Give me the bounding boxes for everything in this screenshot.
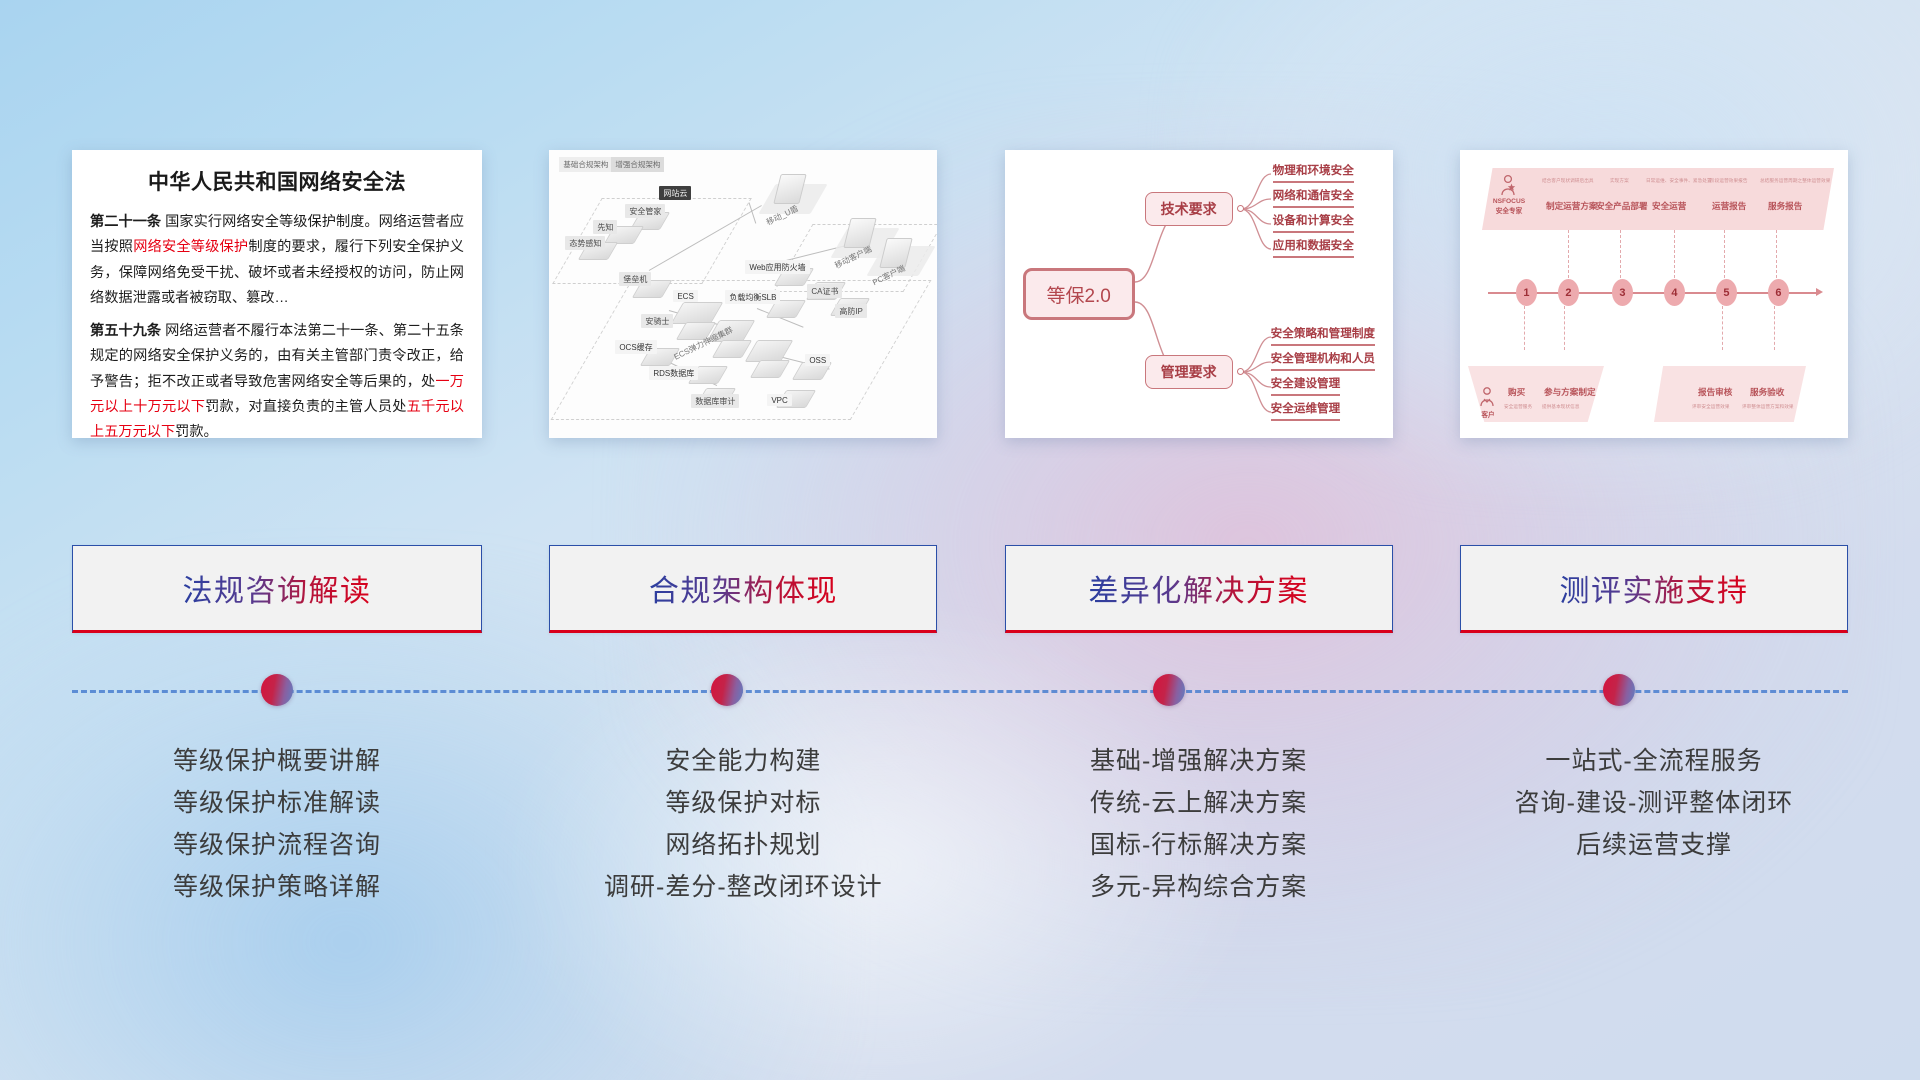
roadmap-bottom-label: 购买 (1508, 386, 1525, 398)
roadmap-bottom-label: 服务验收 (1750, 386, 1784, 398)
roadmap-dash (1568, 230, 1569, 278)
law-title: 中华人民共和国网络安全法 (90, 166, 464, 196)
roadmap-node-1[interactable]: 1 (1516, 279, 1537, 306)
mindmap-leaf: 应用和数据安全 (1273, 237, 1354, 258)
timeline-dot-4[interactable] (1603, 674, 1635, 706)
law-paragraph-2: 第五十九条 网络运营者不履行本法第二十一条、第二十五条规定的网络安全保护义务的，… (90, 319, 464, 438)
title-box-differentiated-solution[interactable]: 差异化解决方案 (1005, 545, 1393, 633)
roadmap-node-6[interactable]: 6 (1768, 279, 1789, 306)
roadmap-top-label: 运营报告 (1712, 200, 1746, 212)
mindmap-leaf: 安全策略和管理制度 (1271, 325, 1375, 346)
arch-label-slb: 负载均衡SLB (725, 290, 780, 304)
title-box-evaluation-support[interactable]: 测评实施支持 (1460, 545, 1848, 633)
arch-label-security-butler: 安全管家 (625, 204, 665, 218)
roadmap-dash (1564, 306, 1565, 350)
law-text-seg: 罚款，对直接负责的主管人员处 (205, 399, 406, 415)
mindmap-leaf: 网络和通信安全 (1273, 187, 1354, 208)
roadmap-dash (1674, 230, 1675, 278)
title-text: 法规咨询解读 (183, 566, 372, 610)
timeline-dashed-line (72, 690, 1848, 693)
mindmap-branch-technical[interactable]: 技术要求 (1145, 192, 1233, 226)
list-item: 传统-云上解决方案 (1005, 782, 1393, 824)
roadmap-top-caption: 实现方案 (1610, 178, 1629, 184)
title-text: 测评实施支持 (1559, 566, 1748, 610)
card-mindmap[interactable]: 等保2.0 技术要求 物理和环境安全 网络和通信安全 设备和计算安全 应用和数据… (1005, 150, 1393, 438)
arch-label-anti-ddos-ip: 高防IP (835, 304, 867, 318)
law-article-number: 第二十一条 (90, 214, 161, 230)
roadmap-top-label: 服务报告 (1768, 200, 1802, 212)
list-column-evaluation-support: 一站式-全流程服务 咨询-建设-测评整体闭环 后续运营支撑 (1460, 740, 1848, 1000)
list-item: 等级保护标准解读 (72, 782, 482, 824)
roadmap-top-caption: 日常运维、安全事件、紧急处置 (1646, 178, 1712, 184)
roadmap-bottom-caption: 安全运营服务 (1504, 404, 1532, 410)
list-column-regulation-consulting: 等级保护概要讲解 等级保护标准解读 等级保护流程咨询 等级保护策略详解 (72, 740, 482, 1000)
mindmap-root-node[interactable]: 等保2.0 (1023, 268, 1135, 320)
mindmap-leaf: 物理和环境安全 (1273, 162, 1354, 183)
list-item: 安全能力构建 (549, 740, 937, 782)
title-box-row: 法规咨询解读 合规架构体现 差异化解决方案 测评实施支持 (0, 545, 1920, 640)
roadmap-top-caption: 总结服务运营周期之整体运营效果 (1760, 178, 1830, 184)
list-item: 多元-异构综合方案 (1005, 866, 1393, 908)
arch-connector (749, 202, 757, 223)
arch-label-database-audit: 数据库审计 (691, 394, 739, 408)
mindmap-leaf: 安全建设管理 (1271, 375, 1341, 396)
card-roadmap[interactable]: NSFOCUS 安全专家 结合客户现状调研后出具 制定运营方案 实现方案 安全产… (1460, 150, 1848, 438)
arch-label-xianzhi: 先知 (593, 220, 617, 234)
list-item: 等级保护概要讲解 (72, 740, 482, 782)
roadmap-dash (1524, 306, 1525, 350)
roadmap-node-2[interactable]: 2 (1558, 279, 1579, 306)
list-item: 等级保护流程咨询 (72, 824, 482, 866)
roadmap-dash (1774, 306, 1775, 350)
roadmap-actor-expert-name: NSFOCUS (1484, 198, 1534, 206)
list-column-differentiated-solution: 基础-增强解决方案 传统-云上解决方案 国标-行标解决方案 多元-异构综合方案 (1005, 740, 1393, 1000)
arch-label-anqishi: 安骑士 (641, 314, 673, 328)
list-item: 等级保护策略详解 (72, 866, 482, 908)
mindmap-branch-management[interactable]: 管理要求 (1145, 355, 1233, 389)
roadmap-dash (1724, 230, 1725, 278)
roadmap-top-label: 安全产品部署 (1596, 200, 1648, 212)
list-column-compliance-architecture: 安全能力构建 等级保护对标 网络拓扑规划 调研-差分-整改闭环设计 (549, 740, 937, 1000)
arch-label-rds-database: RDS数据库 (649, 366, 698, 380)
law-text-seg-highlight: 网络安全等级保护 (133, 239, 248, 255)
timeline-dot-3[interactable] (1153, 674, 1185, 706)
mindmap-collapse-icon[interactable] (1237, 368, 1244, 375)
expert-person-icon (1498, 174, 1518, 198)
list-item: 咨询-建设-测评整体闭环 (1460, 782, 1848, 824)
roadmap-top-label: 安全运营 (1652, 200, 1686, 212)
roadmap-bottom-caption: 评审安全运营效果 (1692, 404, 1730, 410)
arch-label-ca-cert: CA证书 (807, 284, 842, 298)
arch-label-ocs-cache: OCS缓存 (615, 340, 656, 354)
title-text: 合规架构体现 (649, 566, 838, 610)
timeline-dot-2[interactable] (711, 674, 743, 706)
card-law-text[interactable]: 中华人民共和国网络安全法 第二十一条 国家实行网络安全等级保护制度。网络运营者应… (72, 150, 482, 438)
roadmap-top-label: 制定运营方案 (1546, 200, 1598, 212)
roadmap-top-caption: 阶段运营效果报告 (1710, 178, 1748, 184)
list-item: 一站式-全流程服务 (1460, 740, 1848, 782)
arch-label-waf: Web应用防火墙 (745, 260, 809, 274)
roadmap-node-4[interactable]: 4 (1664, 279, 1685, 306)
card-architecture-diagram[interactable]: 基础合规架构 增强合规架构 (549, 150, 937, 438)
list-item: 后续运营支撑 (1460, 824, 1848, 866)
timeline-dot-1[interactable] (261, 674, 293, 706)
title-box-regulation-consulting[interactable]: 法规咨询解读 (72, 545, 482, 633)
list-item: 基础-增强解决方案 (1005, 740, 1393, 782)
roadmap-dash (1620, 230, 1621, 278)
roadmap-actor-expert-subtitle: 安全专家 (1484, 208, 1534, 216)
arch-label-situation-awareness: 态势感知 (565, 236, 605, 250)
law-article-number: 第五十九条 (90, 323, 161, 339)
customer-person-icon (1478, 386, 1496, 410)
detail-list-row: 等级保护概要讲解 等级保护标准解读 等级保护流程咨询 等级保护策略详解 安全能力… (0, 740, 1920, 1000)
architecture-canvas: 基础合规架构 增强合规架构 (549, 150, 937, 438)
roadmap-bottom-caption: 评审整体运营方案和效果 (1742, 404, 1794, 410)
list-item: 调研-差分-整改闭环设计 (549, 866, 937, 908)
list-item: 等级保护对标 (549, 782, 937, 824)
mindmap-leaf: 安全运维管理 (1271, 400, 1341, 421)
arch-label-oss: OSS (805, 354, 830, 366)
roadmap-bottom-label: 参与方案制定 (1544, 386, 1596, 398)
list-item: 网络拓扑规划 (549, 824, 937, 866)
title-text: 差异化解决方案 (1088, 566, 1309, 610)
arch-label-ecs: ECS (673, 290, 697, 302)
roadmap-actor-customer: 客户 (1474, 412, 1502, 420)
law-paragraph-1: 第二十一条 国家实行网络安全等级保护制度。网络运营者应当按照网络安全等级保护制度… (90, 210, 464, 311)
roadmap-top-caption: 结合客户现状调研后出具 (1542, 178, 1594, 184)
list-item: 国标-行标解决方案 (1005, 824, 1393, 866)
roadmap-axis-arrow-icon (1816, 288, 1823, 296)
roadmap-dash (1722, 306, 1723, 350)
mindmap-leaf: 安全管理机构和人员 (1271, 350, 1375, 371)
law-text-seg: 罚款。 (175, 424, 218, 438)
roadmap-bottom-caption: 提供基本现状信息 (1542, 404, 1580, 410)
roadmap-node-3[interactable]: 3 (1612, 279, 1633, 306)
arch-label-website-cloud: 网站云 (659, 186, 691, 200)
timeline (0, 660, 1920, 720)
card-row: 中华人民共和国网络安全法 第二十一条 国家实行网络安全等级保护制度。网络运营者应… (0, 150, 1920, 450)
arch-label-bastion-host: 堡垒机 (619, 272, 651, 286)
arch-tab-enhanced[interactable]: 增强合规架构 (611, 157, 664, 172)
roadmap-dash (1776, 230, 1777, 278)
mindmap-leaf: 设备和计算安全 (1273, 212, 1354, 233)
roadmap-canvas: NSFOCUS 安全专家 结合客户现状调研后出具 制定运营方案 实现方案 安全产… (1472, 164, 1838, 424)
roadmap-node-5[interactable]: 5 (1716, 279, 1737, 306)
arch-label-vpc: VPC (767, 394, 791, 406)
mindmap-collapse-icon[interactable] (1237, 205, 1244, 212)
arch-tab-basic[interactable]: 基础合规架构 (559, 157, 612, 172)
roadmap-bottom-label: 报告审核 (1698, 386, 1732, 398)
title-box-compliance-architecture[interactable]: 合规架构体现 (549, 545, 937, 633)
